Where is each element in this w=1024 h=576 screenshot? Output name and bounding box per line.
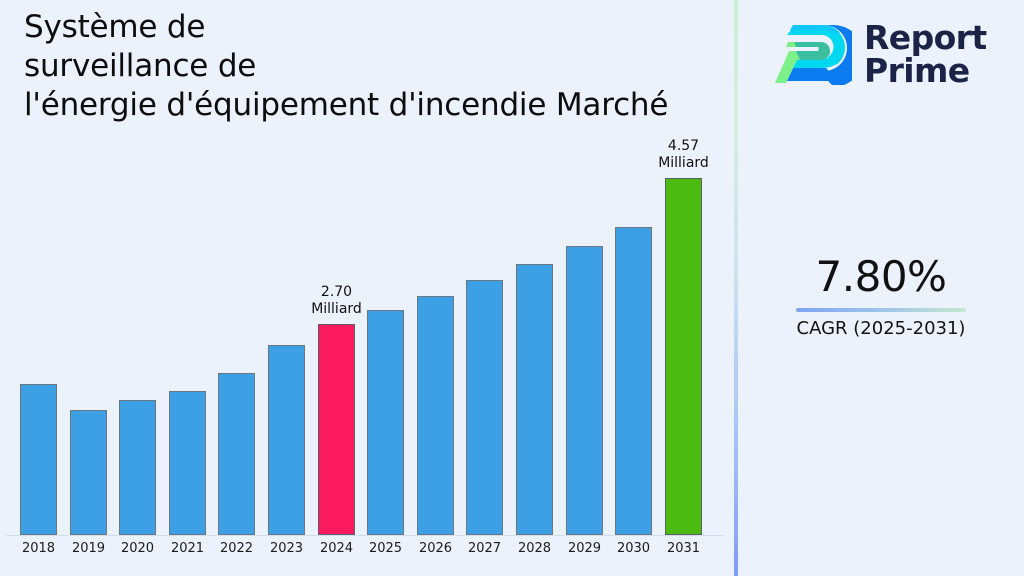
bar-2024 [318, 324, 355, 535]
report-prime-logo-icon [774, 21, 852, 87]
bar-2028 [516, 264, 553, 535]
x-tick-label-2031: 2031 [654, 540, 714, 557]
cagr-caption: CAGR (2025-2031) [738, 317, 1024, 341]
brand-logo: Report Prime [774, 12, 1006, 96]
side-panel: Report Prime 7.80% CAGR (2025-2031) [738, 0, 1024, 576]
bar-chart-plot-area: 2018201920202021202220232.70 Milliard202… [0, 0, 735, 576]
bar-2027 [466, 280, 503, 535]
bar-2031 [665, 178, 702, 535]
bar-2022 [218, 373, 255, 535]
bar-2023 [268, 345, 305, 535]
bar-2030 [615, 227, 652, 535]
brand-name-line-1: Report [864, 21, 987, 54]
chart-infographic: Système de surveillance de l'énergie d'é… [0, 0, 1024, 576]
bar-2029 [566, 246, 603, 535]
bar-2021 [169, 391, 206, 535]
x-axis-baseline [6, 535, 724, 536]
cagr-value: 7.80% [738, 252, 1024, 302]
cagr-block: 7.80% CAGR (2025-2031) [738, 252, 1024, 341]
bar-2025 [367, 310, 404, 535]
bar-value-label-2031: 4.57 Milliard [624, 138, 744, 172]
bar-2019 [70, 410, 107, 535]
chart-panel: Système de surveillance de l'énergie d'é… [0, 0, 735, 576]
bar-2018 [20, 384, 57, 535]
cagr-divider-rule [796, 308, 966, 312]
bar-2026 [417, 296, 454, 535]
brand-name-line-2: Prime [864, 54, 987, 87]
bar-2020 [119, 400, 156, 535]
brand-wordmark: Report Prime [864, 21, 987, 87]
